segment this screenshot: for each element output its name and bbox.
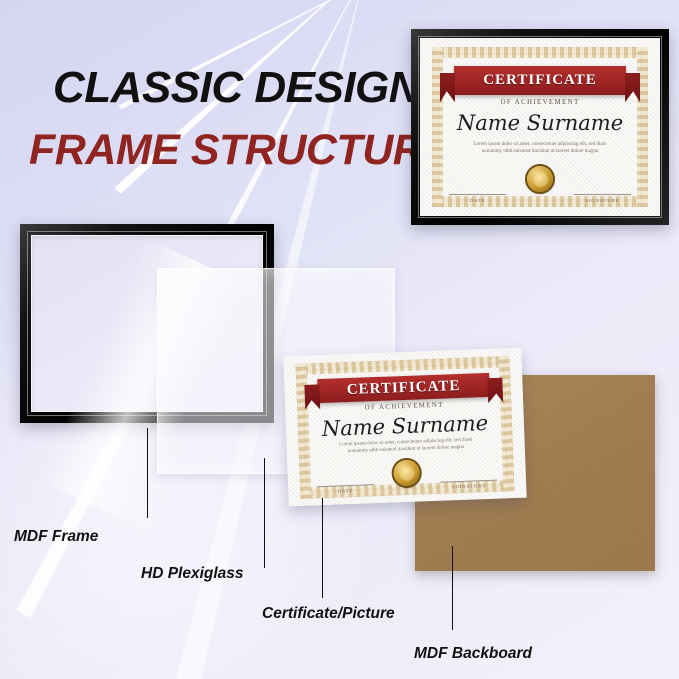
callout-label-mdf-frame: MDF Frame	[14, 528, 98, 546]
leader-line-plexiglass	[264, 458, 265, 568]
signature-rule	[574, 194, 632, 195]
framed-certificate-product: CERTIFICATE OF ACHIEVEMENT Name Surname …	[411, 29, 669, 225]
certificate-artwork: CERTIFICATE OF ACHIEVEMENT Name Surname …	[420, 38, 660, 216]
callout-label-backboard: MDF Backboard	[414, 645, 532, 663]
infographic-canvas: CLASSIC DESIGN FRAME STRUCTURE CERTIFICA…	[0, 0, 679, 679]
page-subtitle: FRAME STRUCTURE	[29, 126, 451, 175]
leader-line-certificate	[322, 498, 323, 598]
callout-label-plexiglass: HD Plexiglass	[141, 565, 244, 583]
certificate-subtitle: OF ACHIEVEMENT	[420, 98, 660, 106]
callout-label-certificate: Certificate/Picture	[262, 605, 395, 623]
frame-mat: CERTIFICATE OF ACHIEVEMENT Name Surname …	[420, 38, 660, 216]
signature-label: SIGNATURE	[574, 198, 632, 203]
leader-line-backboard	[452, 546, 453, 630]
page-title: CLASSIC DESIGN	[53, 63, 420, 113]
certificate-ribbon-title: CERTIFICATE	[347, 377, 461, 398]
certificate-recipient-name: Name Surname	[420, 111, 660, 135]
certificate-ribbon-title: CERTIFICATE	[483, 72, 597, 89]
date-rule	[449, 194, 507, 195]
certificate-artwork: CERTIFICATE OF ACHIEVEMENT Name Surname …	[283, 348, 526, 507]
certificate-body-text: Lorem ipsum dolor sit amet, consectetuer…	[468, 141, 612, 156]
certificate-picture-component: CERTIFICATE OF ACHIEVEMENT Name Surname …	[283, 348, 526, 507]
date-label: DATE	[449, 198, 507, 203]
gold-seal-icon	[527, 166, 553, 192]
certificate-lace-top	[432, 47, 648, 58]
leader-line-mdf-frame	[147, 428, 148, 518]
certificate-ribbon: CERTIFICATE	[454, 66, 627, 94]
